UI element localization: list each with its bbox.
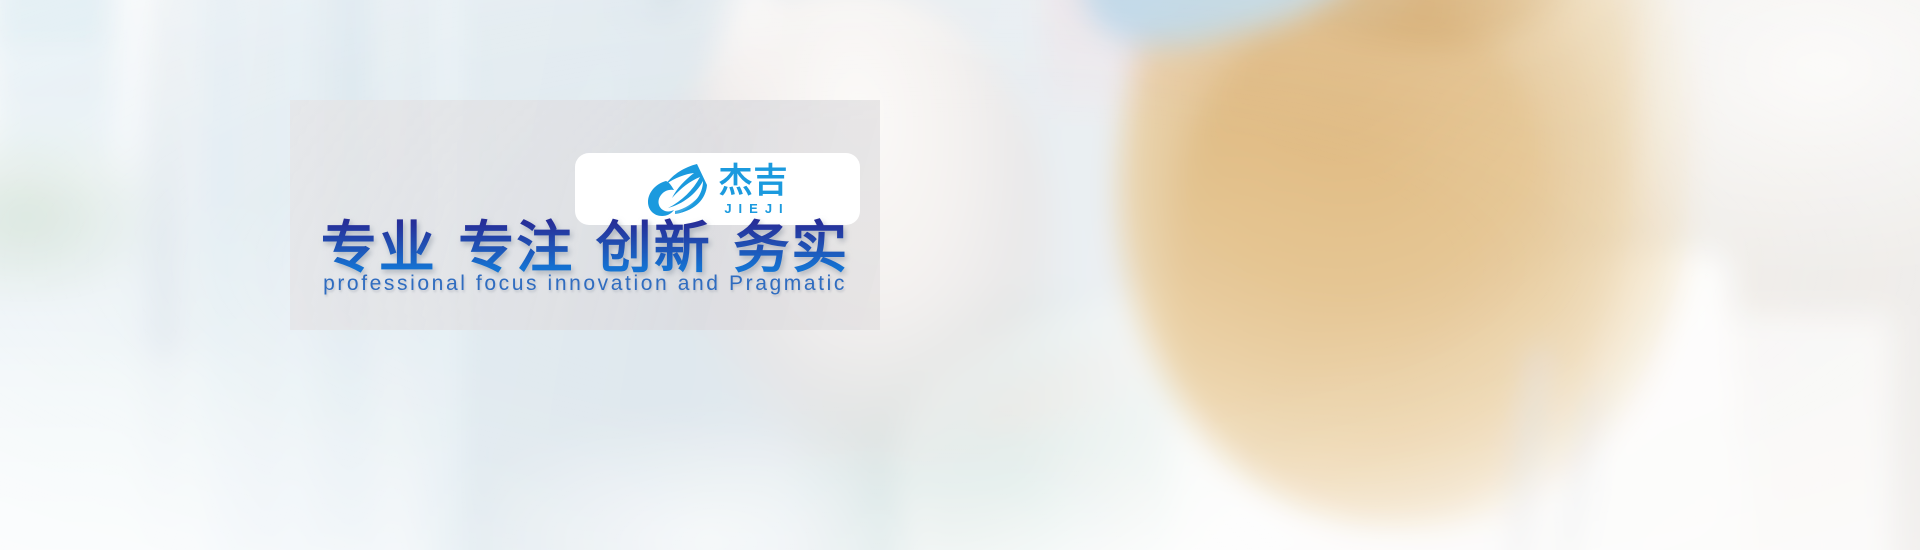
logo-chinese-name: 杰吉 — [718, 164, 788, 198]
tagline-english: professional focus innovation and Pragma… — [290, 272, 880, 296]
background-vignette — [0, 0, 1920, 550]
hero-banner: 杰吉 JIEJI 专业 专注 创新 务实 professional focus … — [0, 0, 1920, 550]
